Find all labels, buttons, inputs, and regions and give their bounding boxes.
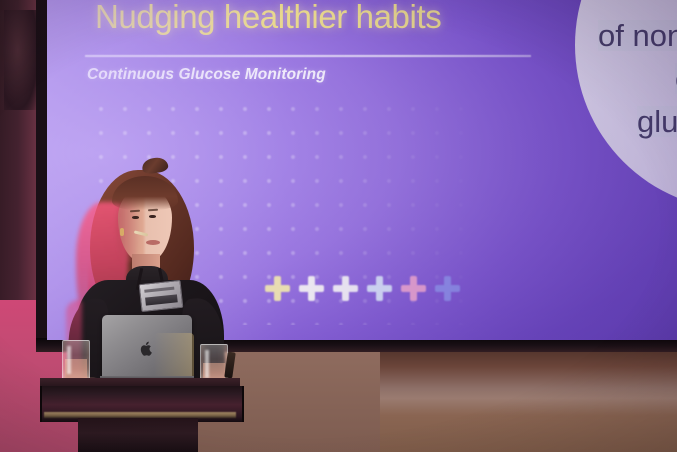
slide-title: Nudging healthier habits (95, 0, 441, 36)
plus-icon-4 (367, 276, 392, 301)
slide-title-divider (85, 55, 531, 57)
screenshot-root: Nudging healthier habits Continuous Gluc… (0, 0, 677, 452)
slide-circle-callout: 9 of non- expe glucos @glu (575, 0, 677, 210)
badge-text-line-1 (144, 287, 174, 293)
circle-callout-line-1: of non- (598, 20, 677, 51)
stage-left-wall-shadow (4, 10, 38, 110)
laptop-lid-highlight (154, 333, 194, 379)
speaker-mouth (146, 240, 160, 245)
slide-plus-icon-row (265, 276, 460, 301)
plus-icon-1 (265, 276, 290, 301)
water-glass-right-highlight (205, 350, 209, 378)
speaker-hair-topknot (141, 156, 169, 174)
plus-icon-6 (435, 276, 460, 301)
apple-logo-icon (140, 341, 153, 356)
speaker-name-badge (139, 280, 184, 312)
podium-base-column (78, 418, 198, 452)
water-glass-left-highlight (67, 346, 71, 374)
plus-icon-2 (299, 276, 324, 301)
speaker-earring (120, 228, 124, 236)
circle-callout-line-3: glucos (637, 106, 677, 137)
water-glass-left (62, 340, 90, 382)
plus-icon-3 (333, 276, 358, 301)
laptop-macbook (102, 315, 192, 381)
slide-subtitle: Continuous Glucose Monitoring (87, 66, 326, 84)
plus-icon-5 (401, 276, 426, 301)
badge-text-line-2 (145, 294, 178, 305)
